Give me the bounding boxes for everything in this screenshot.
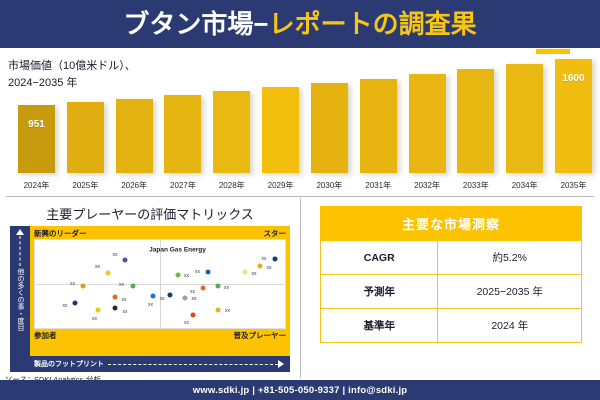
bar-category-label: 2034年 <box>500 180 549 191</box>
arrow-up-icon <box>16 229 24 235</box>
insight-key: CAGR <box>321 241 438 275</box>
bar <box>311 83 348 173</box>
bar-category-label: 2030年 <box>305 180 354 191</box>
insights-table: 主要な市場洞察 CAGR約5.2%予測年2025−2035 年基準年2024 年 <box>320 206 582 343</box>
infographic-root: ブタン市場−レポートの調査果 市場価値（10億米ドル）、 2024−2035 年… <box>0 0 600 400</box>
matrix-data-point-label: xx <box>63 303 68 309</box>
matrix-data-point <box>80 283 85 288</box>
insight-value: 2024 年 <box>438 309 582 343</box>
table-row: CAGR約5.2% <box>321 241 582 275</box>
quadrant-label-emerging-leaders: 新興のリーダー <box>34 228 87 239</box>
matrix-y-axis: 他の多くの事・度目 <box>10 226 30 356</box>
bar-category-label: 2028年 <box>207 180 256 191</box>
bar-column: 2025年 <box>67 52 104 173</box>
bar <box>360 79 397 173</box>
bar: 951 <box>18 105 55 173</box>
matrix-data-point-label: xx <box>160 296 165 302</box>
bar-column: 2026年 <box>116 52 153 173</box>
lower-panels: 主要プレーヤーの評価マトリックス 他の多くの事・度目 新興のリーダー スター 参… <box>0 196 600 380</box>
insight-key: 予測年 <box>321 275 438 309</box>
bar-column: 2028年 <box>213 52 250 173</box>
bar-column: 2030年 <box>311 52 348 173</box>
bar-column: 2027年 <box>164 52 201 173</box>
matrix-data-point-label: xx <box>184 273 189 279</box>
bar-category-label: 2032年 <box>403 180 452 191</box>
bar-column: 2029年 <box>262 52 299 173</box>
matrix-data-point <box>150 294 155 299</box>
matrix-quadrant-frame: 新興のリーダー スター 参加者 普及プレーヤー Japan Gas Energy… <box>30 226 290 356</box>
matrix-data-point-label: xx <box>119 282 124 288</box>
bar <box>67 102 104 173</box>
matrix-data-point-label: xx <box>224 285 229 291</box>
bar-category-label: 2025年 <box>61 180 110 191</box>
matrix-data-point-label: xx <box>122 297 127 303</box>
bar-column: 2032年 <box>409 52 446 173</box>
matrix-data-point <box>205 269 210 274</box>
matrix-data-point <box>130 283 135 288</box>
bar-category-label: 2035年 <box>549 180 598 191</box>
matrix-data-point-label: xx <box>225 308 230 314</box>
bar <box>213 91 250 173</box>
highlight-company-label: Japan Gas Energy <box>149 246 206 253</box>
insight-value: 約5.2% <box>438 241 582 275</box>
matrix-data-point-label: xx <box>95 264 100 270</box>
insights-table-body: CAGR約5.2%予測年2025−2035 年基準年2024 年 <box>321 241 582 343</box>
matrix-data-point <box>215 308 220 313</box>
matrix-data-point <box>175 273 180 278</box>
matrix-data-point-label: xx <box>190 289 195 295</box>
matrix-x-axis-label: 製品のフットプリント <box>34 359 104 369</box>
bar-chart-plot-area: 9512024年2025年2026年2027年2028年2029年2030年20… <box>18 52 592 173</box>
bar-column: 9512024年 <box>18 52 55 173</box>
matrix-data-point-label: xx <box>148 302 153 308</box>
matrix-data-point <box>95 308 100 313</box>
table-header-row: 主要な市場洞察 <box>321 207 582 241</box>
header-bar: ブタン市場−レポートの調査果 <box>0 0 600 48</box>
matrix-data-point-label: xx <box>252 271 257 277</box>
matrix-y-axis-label: 他の多くの事・度目 <box>15 268 25 331</box>
matrix-scatter-plot: Japan Gas Energy xxxxxxxxxxxxxxxxxxxxxxx… <box>34 239 286 329</box>
matrix-data-point <box>215 283 220 288</box>
bar-column: 16002035年 <box>555 52 592 173</box>
dashed-line-icon <box>108 364 278 365</box>
arrow-right-icon <box>278 360 284 368</box>
matrix-data-point-label: xx <box>195 269 200 275</box>
footer-bar: www.sdki.jp | +81-505-050-9337 | info@sd… <box>0 380 600 400</box>
matrix-data-point <box>113 295 118 300</box>
matrix-title: 主要プレーヤーの評価マトリックス <box>0 204 300 223</box>
bar-category-label: 2031年 <box>354 180 403 191</box>
bar-value-label: 1600 <box>555 73 592 84</box>
quadrant-label-pervasive-players: 普及プレーヤー <box>234 330 287 341</box>
page-title-accent: レポートの調査果 <box>269 9 477 39</box>
bar <box>164 95 201 173</box>
matrix-x-axis: 製品のフットプリント <box>10 356 290 372</box>
footer-contact-text: www.sdki.jp | +81-505-050-9337 | info@sd… <box>193 385 408 396</box>
matrix-data-point-label: xx <box>192 296 197 302</box>
insights-table-title: 主要な市場洞察 <box>321 207 582 241</box>
key-market-insights-panel: 主要な市場洞察 CAGR約5.2%予測年2025−2035 年基準年2024 年 <box>300 196 600 380</box>
page-title: ブタン市場−レポートの調査果 <box>123 11 476 37</box>
bar: 1600 <box>555 59 592 173</box>
market-value-bar-chart: 9512024年2025年2026年2027年2028年2029年2030年20… <box>0 52 600 194</box>
bar-column: 2034年 <box>506 52 543 173</box>
matrix-data-point <box>123 258 128 263</box>
bar-column: 2031年 <box>360 52 397 173</box>
matrix-data-point <box>105 271 110 276</box>
matrix-data-point-label: xx <box>92 316 97 322</box>
bar-value-label: 951 <box>18 119 55 130</box>
quadrant-label-participants: 参加者 <box>34 330 57 341</box>
insight-key: 基準年 <box>321 309 438 343</box>
matrix-data-point-label: xx <box>113 252 118 258</box>
table-row: 予測年2025−2035 年 <box>321 275 582 309</box>
quadrant-label-stars: スター <box>264 228 287 239</box>
bar-category-label: 2024年 <box>12 180 61 191</box>
matrix-data-point-label: xx <box>262 256 267 262</box>
player-evaluation-matrix-panel: 主要プレーヤーの評価マトリックス 他の多くの事・度目 新興のリーダー スター 参… <box>0 196 300 380</box>
matrix-data-point <box>113 305 118 310</box>
bar-category-label: 2027年 <box>158 180 207 191</box>
page-title-primary: ブタン市場− <box>123 9 268 39</box>
matrix-data-point <box>190 312 195 317</box>
bar-category-label: 2026年 <box>110 180 159 191</box>
bar <box>116 99 153 173</box>
bar-category-label: 2033年 <box>451 180 500 191</box>
table-row: 基準年2024 年 <box>321 309 582 343</box>
matrix-box: 他の多くの事・度目 新興のリーダー スター 参加者 普及プレーヤー Japan … <box>10 226 290 356</box>
matrix-data-point <box>73 301 78 306</box>
matrix-data-point-label: xx <box>267 265 272 271</box>
dashed-line-icon <box>20 236 21 266</box>
matrix-data-point-label: xx <box>70 281 75 287</box>
matrix-data-point <box>168 292 173 297</box>
matrix-data-point <box>183 296 188 301</box>
matrix-data-point-label: xx <box>123 309 128 315</box>
bar <box>262 87 299 173</box>
insight-value: 2025−2035 年 <box>438 275 582 309</box>
bar-column: 2033年 <box>457 52 494 173</box>
matrix-data-point <box>258 264 263 269</box>
bar-category-label: 2029年 <box>256 180 305 191</box>
matrix-data-point <box>273 257 278 262</box>
chart-baseline <box>10 172 596 173</box>
matrix-data-point <box>243 269 248 274</box>
matrix-data-point-label: xx <box>184 320 189 326</box>
bar <box>506 64 543 173</box>
bar <box>457 69 494 173</box>
matrix-data-point <box>200 285 205 290</box>
bar <box>409 74 446 173</box>
